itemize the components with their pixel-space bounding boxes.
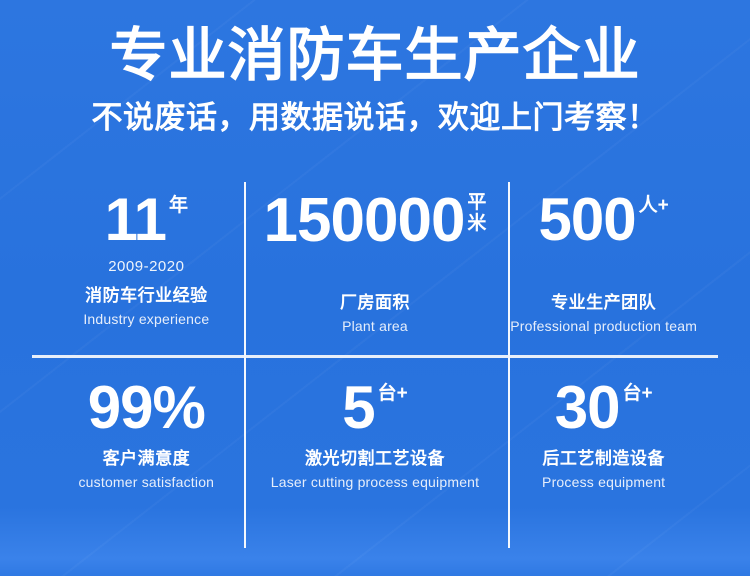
- stat-label-cn: 厂房面积: [340, 288, 410, 313]
- stat-value-group: 30 台+: [555, 378, 653, 438]
- stat-label-en: Industry experience: [83, 311, 209, 327]
- stat-label-cn: 激光切割工艺设备: [305, 444, 445, 469]
- poster-header: 专业消防车生产企业 不说废话，用数据说话，欢迎上门考察！: [0, 24, 750, 136]
- stats-grid: 11 年 2009-2020 消防车行业经验 Industry experien…: [32, 182, 718, 548]
- stat-label-cn: 消防车行业经验: [85, 281, 208, 306]
- stat-value: 500: [539, 190, 636, 250]
- stat-value: 30: [555, 378, 620, 438]
- stat-range: 2009-2020: [108, 258, 184, 275]
- stat-value-group: 99%: [88, 378, 205, 438]
- stat-value-group: 5 台+: [342, 378, 407, 438]
- stat-label-en: Plant area: [342, 318, 408, 334]
- stat-unit: 人+: [639, 196, 669, 216]
- stat-label-en: Professional production team: [510, 318, 697, 334]
- stat-label-en: Laser cutting process equipment: [271, 474, 480, 490]
- stat-label-cn: 后工艺制造设备: [542, 444, 665, 469]
- stat-value-group: 11 年: [105, 190, 188, 250]
- stat-label-en: customer satisfaction: [78, 474, 214, 490]
- page-title: 专业消防车生产企业: [0, 24, 750, 88]
- stat-cell-customer-satisfaction: 99% 客户满意度 customer satisfaction: [32, 356, 261, 548]
- stat-label-en: Process equipment: [542, 474, 665, 490]
- stat-unit: 年: [169, 196, 188, 216]
- stat-label-cn: 专业生产团队: [551, 288, 656, 313]
- stat-value: 150000: [264, 190, 465, 252]
- stat-cell-production-team: 500 人+ 专业生产团队 Professional production te…: [489, 182, 718, 356]
- stat-unit: 台+: [378, 384, 408, 404]
- stat-unit: 台+: [622, 384, 652, 404]
- page-subtitle: 不说废话，用数据说话，欢迎上门考察！: [0, 100, 750, 136]
- stat-value: 11: [105, 190, 166, 250]
- stat-value: 99%: [88, 378, 205, 438]
- promo-poster: 专业消防车生产企业 不说废话，用数据说话，欢迎上门考察！ 11 年 2009-2…: [0, 0, 750, 576]
- stat-value-group: 500 人+: [539, 190, 669, 250]
- stat-cell-plant-area: 150000 平 米 厂房面积 Plant area: [261, 182, 490, 356]
- stat-cell-process-equipment: 30 台+ 后工艺制造设备 Process equipment: [489, 356, 718, 548]
- stat-label-cn: 客户满意度: [103, 444, 191, 469]
- stat-value: 5: [342, 378, 374, 438]
- stat-value-group: 150000 平 米: [264, 190, 487, 252]
- stat-cell-industry-experience: 11 年 2009-2020 消防车行业经验 Industry experien…: [32, 182, 261, 356]
- stat-cell-laser-cutting-equipment: 5 台+ 激光切割工艺设备 Laser cutting process equi…: [261, 356, 490, 548]
- stat-unit: 平 米: [467, 192, 486, 235]
